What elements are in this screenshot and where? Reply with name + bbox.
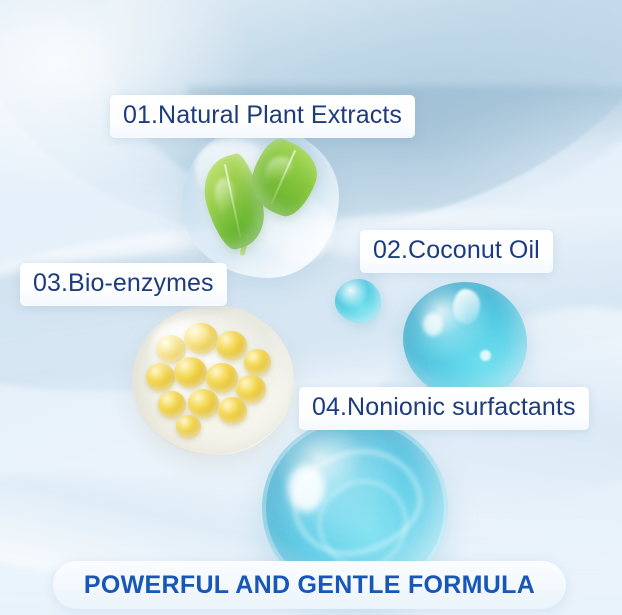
- ingredient-infographic-poster: 01.Natural Plant Extracts 02.Coconut Oil…: [0, 0, 622, 615]
- headline-banner: POWERFUL AND GENTLE FORMULA: [53, 561, 566, 609]
- ingredient-label-01: 01.Natural Plant Extracts: [110, 95, 415, 138]
- ingredient-label-02: 02.Coconut Oil: [360, 230, 553, 273]
- sphere-highlight: [151, 320, 219, 377]
- ingredient-label-04: 04.Nonionic surfactants: [299, 387, 589, 430]
- headline-text: POWERFUL AND GENTLE FORMULA: [84, 571, 535, 600]
- droplet-sparkle: [480, 350, 491, 361]
- ingredient-label-03: 03.Bio-enzymes: [20, 263, 227, 306]
- droplet-highlight-secondary: [423, 313, 443, 337]
- bio-enzyme-sphere-icon: [132, 305, 294, 455]
- sphere-rim: [132, 305, 294, 455]
- droplet-highlight: [453, 289, 480, 324]
- coconut-oil-satellite-droplet-icon: [335, 279, 381, 323]
- leaf-highlight: [210, 176, 242, 223]
- coconut-oil-droplet-icon: [403, 282, 527, 400]
- plant-extract-droplet-icon: [181, 126, 339, 278]
